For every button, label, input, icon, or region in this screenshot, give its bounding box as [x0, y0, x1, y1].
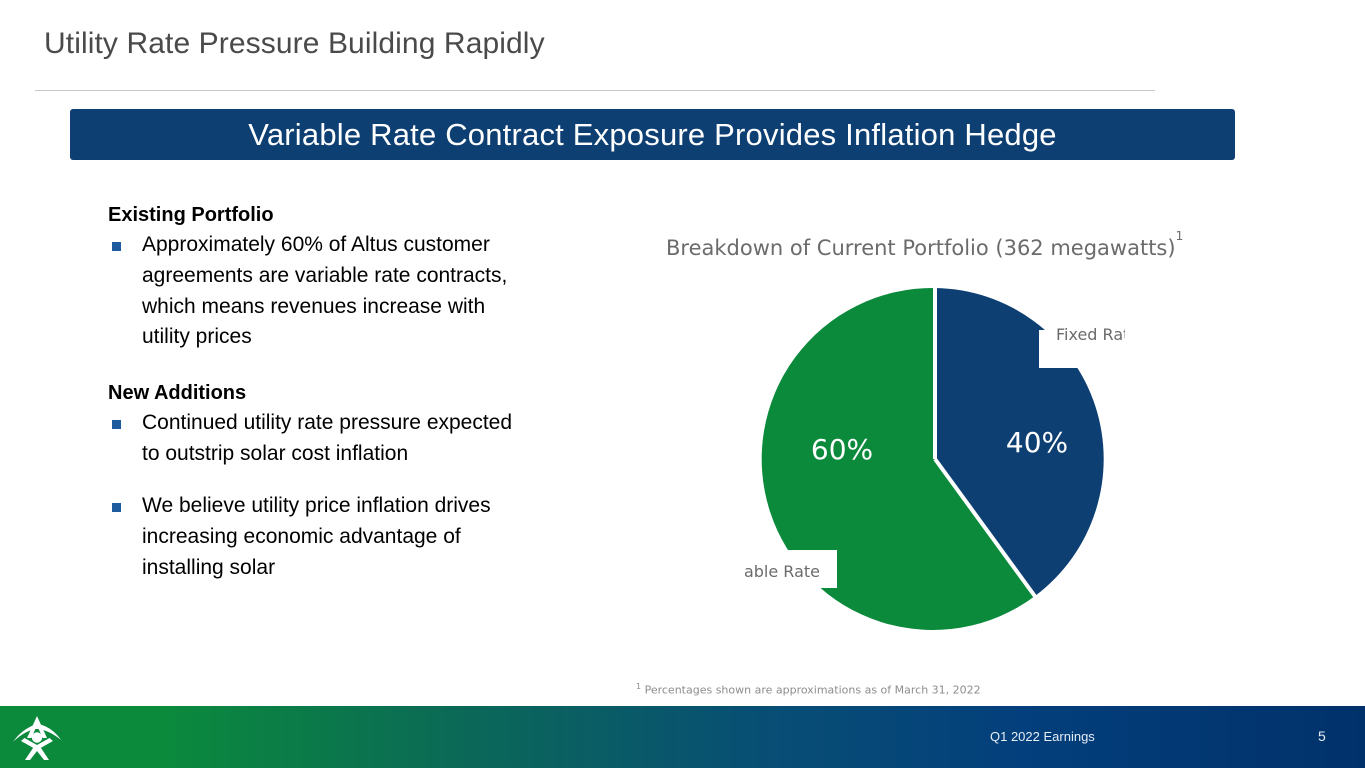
pie-category-label-variable-rate: Variable Rate: [745, 562, 820, 581]
footer-page-number: 5: [1318, 728, 1326, 744]
page-title: Utility Rate Pressure Building Rapidly: [44, 27, 545, 61]
altus-power-logo-icon: [11, 714, 63, 762]
bullet-square-icon: [112, 242, 121, 251]
banner-title: Variable Rate Contract Exposure Provides…: [248, 117, 1056, 153]
bullet-text: Continued utility rate pressure expected…: [142, 408, 528, 469]
pie-chart-svg: 40% 60% Fixed Rate Variable Rate: [745, 278, 1125, 640]
pie-value-label-variable-rate: 60%: [811, 433, 873, 466]
bullet-square-icon: [112, 503, 121, 512]
bullet-spacer: [108, 469, 528, 491]
banner: Variable Rate Contract Exposure Provides…: [70, 109, 1235, 160]
bullet-text: We believe utility price inflation drive…: [142, 491, 528, 583]
section-heading-new-additions: New Additions: [108, 381, 528, 405]
section-spacer: [108, 353, 528, 381]
title-divider: [35, 90, 1155, 91]
list-item: Continued utility rate pressure expected…: [108, 408, 528, 469]
chart-title-text: Breakdown of Current Portfolio (362 mega…: [666, 236, 1176, 260]
bullet-text: Approximately 60% of Altus customer agre…: [142, 230, 528, 352]
chart-title: Breakdown of Current Portfolio (362 mega…: [666, 236, 1183, 260]
content-column: Existing Portfolio Approximately 60% of …: [108, 203, 528, 583]
list-item: We believe utility price inflation drive…: [108, 491, 528, 583]
pie-value-label-fixed-rate: 40%: [1006, 426, 1068, 459]
pie-chart: 40% 60% Fixed Rate Variable Rate: [745, 278, 1125, 640]
chart-footnote: 1 Percentages shown are approximations a…: [636, 682, 981, 697]
slide-footer: Q1 2022 Earnings 5: [0, 706, 1365, 768]
pie-category-label-fixed-rate: Fixed Rate: [1056, 325, 1125, 344]
footer-deck-label: Q1 2022 Earnings: [990, 729, 1095, 744]
list-item: Approximately 60% of Altus customer agre…: [108, 230, 528, 352]
section-heading-existing-portfolio: Existing Portfolio: [108, 203, 528, 227]
chart-footnote-text: Percentages shown are approximations as …: [645, 684, 981, 697]
chart-title-footnote-marker: 1: [1176, 229, 1184, 243]
chart-footnote-marker: 1: [636, 682, 641, 691]
bullet-square-icon: [112, 420, 121, 429]
